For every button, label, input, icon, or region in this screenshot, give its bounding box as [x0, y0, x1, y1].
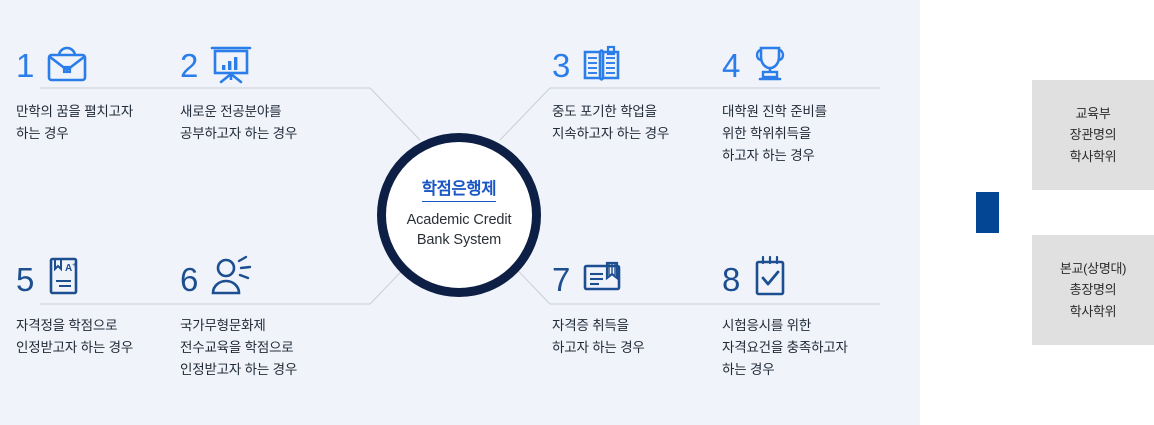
briefcase-icon [43, 42, 91, 89]
reason-item-6-text: 국가무형문화제 전수교육을 학점으로 인정받고자 하는 경우 [180, 315, 370, 381]
center-badge-title-en: Academic Credit Bank System [407, 211, 512, 249]
reason-item-1-head: 1 [16, 40, 191, 90]
reason-item-2-head: 2 [180, 40, 365, 90]
outcome-box-1-text: 교육부 장관명의 학사학위 [1070, 103, 1117, 167]
reason-item-8-number: 8 [722, 263, 740, 296]
reason-item-5-head: 5 A + [16, 254, 196, 304]
flow-marker [976, 192, 999, 233]
trophy-icon [749, 42, 791, 89]
reason-item-8[interactable]: 8 시험응시를 위한 자격요건을 충족하고자 하는 경우 [722, 254, 912, 381]
reason-item-3-number: 3 [552, 49, 570, 82]
reason-item-5-number: 5 [16, 263, 34, 296]
reason-item-1-text: 만학의 꿈을 펼치고자 하는 경우 [16, 101, 191, 145]
reason-item-6-head: 6 [180, 254, 370, 304]
reason-item-2[interactable]: 2 새로운 전공분야를 공부하고자 하는 경우 [180, 40, 365, 145]
reason-item-6[interactable]: 6 국가무형문화제 전수교육을 학점으로 인정받고자 하는 경우 [180, 254, 370, 381]
certificate-ribbon-icon [579, 257, 627, 302]
reason-item-4-text: 대학원 진학 준비를 위한 학위취득을 하고자 하는 경우 [722, 101, 907, 167]
reason-item-8-head: 8 [722, 254, 912, 304]
reason-item-3-text: 중도 포기한 학업을 지속하고자 하는 경우 [552, 101, 737, 145]
reason-item-5-text: 자격정을 학점으로 인정받고자 하는 경우 [16, 315, 196, 359]
reason-item-7-text: 자격증 취득을 하고자 하는 경우 [552, 315, 737, 359]
person-speaking-icon [207, 255, 255, 304]
outcome-box-1[interactable]: 교육부 장관명의 학사학위 [1032, 80, 1154, 190]
center-badge[interactable]: 학점은행제 Academic Credit Bank System [377, 133, 541, 297]
outcome-box-2-text: 본교(상명대) 총장명의 학사학위 [1060, 258, 1126, 322]
reason-item-1[interactable]: 1 만학의 꿈을 펼치고자 하는 경우 [16, 40, 191, 145]
center-badge-title-ko: 학점은행제 [422, 180, 496, 202]
certificate-grade-icon: A + [43, 254, 83, 305]
open-book-icon [579, 42, 625, 89]
reason-item-2-number: 2 [180, 49, 198, 82]
reason-item-4-number: 4 [722, 49, 740, 82]
reason-item-8-text: 시험응시를 위한 자격요건을 충족하고자 하는 경우 [722, 315, 912, 381]
reason-item-4[interactable]: 4 대학원 진학 준비를 위한 학위취득을 하고자 하는 경우 [722, 40, 907, 167]
reason-item-3[interactable]: 3 중도 포기한 학업을 지속하 [552, 40, 737, 145]
notepad-check-icon [749, 254, 791, 305]
reason-item-2-text: 새로운 전공분야를 공부하고자 하는 경우 [180, 101, 365, 145]
reason-item-5[interactable]: 5 A + 자격정을 학점으로 인정받고자 하는 경우 [16, 254, 196, 359]
reason-item-1-number: 1 [16, 49, 34, 82]
reason-item-7-number: 7 [552, 263, 570, 296]
reason-item-4-head: 4 [722, 40, 907, 90]
reason-item-3-head: 3 [552, 40, 737, 90]
reason-item-6-number: 6 [180, 263, 198, 296]
outcome-box-2[interactable]: 본교(상명대) 총장명의 학사학위 [1032, 235, 1154, 345]
presentation-chart-icon [207, 41, 255, 90]
reason-item-7-head: 7 [552, 254, 737, 304]
reason-item-7[interactable]: 7 자격증 취득을 하고자 하는 경우 [552, 254, 737, 359]
svg-text:+: + [72, 262, 76, 269]
infographic-root: 1 만학의 꿈을 펼치고자 하는 경우 2 [0, 0, 1154, 425]
